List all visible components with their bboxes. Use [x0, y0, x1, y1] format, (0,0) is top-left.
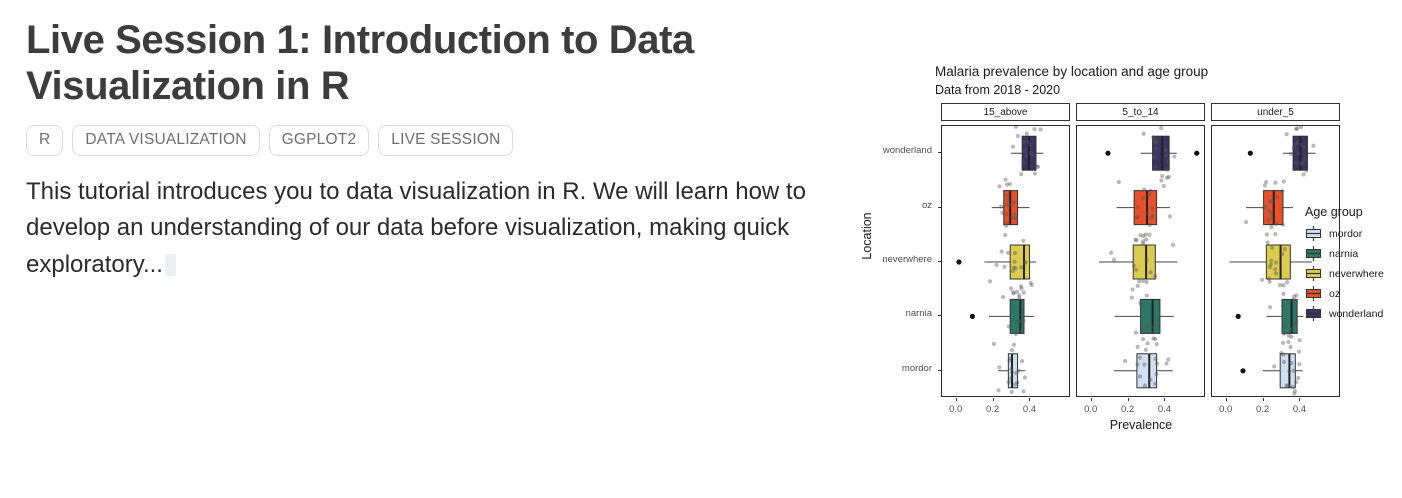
- jitter-point: [1153, 382, 1157, 386]
- x-tick-label: 0.0: [949, 404, 962, 415]
- tag-r[interactable]: R: [26, 125, 63, 156]
- jitter-point: [1009, 376, 1013, 380]
- boxplot-under_5-neverwhere: [1230, 232, 1312, 287]
- jitter-point: [1032, 127, 1036, 131]
- jitter-point: [1003, 233, 1007, 237]
- jitter-point: [1268, 200, 1272, 204]
- jitter-point: [1013, 251, 1017, 255]
- jitter-point: [1000, 211, 1004, 215]
- jitter-point: [1289, 361, 1293, 365]
- jitter-point: [1278, 283, 1282, 287]
- facet-strip-row: 15_above5_to_14under_5: [941, 103, 1340, 121]
- jitter-point: [1013, 382, 1017, 386]
- jitter-point: [1117, 180, 1121, 184]
- x-axis-label: Prevalence: [1006, 418, 1276, 432]
- jitter-point: [1012, 200, 1016, 204]
- jitter-point: [1171, 243, 1175, 247]
- x-axis-ticks: 0.00.20.40.00.20.40.00.20.4: [941, 398, 1340, 420]
- jitter-point: [1142, 187, 1146, 191]
- jitter-point: [1151, 213, 1155, 217]
- jitter-point: [1130, 287, 1134, 291]
- legend-key-icon: [1305, 245, 1322, 262]
- legend-key-icon: [1305, 225, 1322, 242]
- jitter-point: [1013, 266, 1017, 270]
- jitter-point: [1280, 252, 1284, 256]
- facet-strip-5_to_14: 5_to_14: [1076, 103, 1205, 121]
- jitter-point: [1168, 214, 1172, 218]
- x-axis-panel-5_to_14: 0.00.20.4: [1076, 398, 1205, 420]
- legend-item-oz[interactable]: oz: [1305, 285, 1384, 302]
- jitter-point: [1141, 234, 1145, 238]
- jitter-point: [1019, 284, 1023, 288]
- jitter-point: [1268, 265, 1272, 269]
- jitter-point: [1030, 283, 1034, 287]
- panel-5_to_14: [1076, 125, 1205, 397]
- jitter-point: [1297, 362, 1301, 366]
- jitter-point: [1147, 193, 1151, 197]
- x-axis-panel-under_5: 0.00.20.4: [1211, 398, 1340, 420]
- jitter-point: [1274, 222, 1278, 226]
- jitter-point: [1000, 249, 1004, 253]
- jitter-point: [1147, 233, 1151, 237]
- legend-label: wonderland: [1329, 308, 1383, 320]
- jitter-point: [1012, 343, 1016, 347]
- jitter-point: [1145, 293, 1149, 297]
- jitter-point: [1269, 225, 1273, 229]
- jitter-point: [1012, 260, 1016, 264]
- legend-item-narnia[interactable]: narnia: [1305, 245, 1384, 262]
- y-tick-label-oz: oz: [922, 200, 932, 211]
- x-tick-label: 0.4: [1023, 404, 1036, 415]
- boxplot-under_5-oz: [1244, 179, 1293, 229]
- jitter-point: [1287, 369, 1291, 373]
- jitter-point: [1154, 165, 1158, 169]
- legend-key-icon: [1305, 265, 1322, 282]
- boxplot-5_to_14-oz: [1117, 180, 1172, 238]
- jitter-point: [1130, 295, 1134, 299]
- tag-live-session[interactable]: LIVE SESSION: [378, 125, 513, 156]
- jitter-point: [1142, 362, 1146, 366]
- jitter-point: [1020, 359, 1024, 363]
- jitter-point: [1162, 184, 1166, 188]
- jitter-point: [1019, 172, 1023, 176]
- jitter-point: [1010, 390, 1014, 394]
- tag-list: R DATA VISUALIZATION GGPLOT2 LIVE SESSIO…: [26, 125, 860, 156]
- jitter-point: [1148, 189, 1152, 193]
- x-tick-label: 0.2: [986, 404, 999, 415]
- jitter-point: [1009, 203, 1013, 207]
- boxplot-15_above-mordor: [996, 343, 1027, 394]
- boxplot-5_to_14-mordor: [1114, 342, 1173, 397]
- jitter-point: [1273, 232, 1277, 236]
- jitter-point: [1133, 238, 1137, 242]
- x-tick-label: 0.4: [1158, 404, 1171, 415]
- jitter-point: [1266, 240, 1270, 244]
- jitter-point: [1154, 147, 1158, 151]
- jitter-point: [1281, 341, 1285, 345]
- jitter-point: [988, 279, 992, 283]
- jitter-point: [1155, 324, 1159, 328]
- jitter-point: [1036, 165, 1040, 169]
- x-tick-mark: [1299, 398, 1300, 401]
- jitter-point: [1141, 239, 1145, 243]
- jitter-point: [999, 204, 1003, 208]
- jitter-point: [1138, 374, 1142, 378]
- legend-label: oz: [1329, 288, 1340, 300]
- boxplot-under_5-narnia: [1236, 292, 1304, 344]
- jitter-point: [1262, 206, 1266, 210]
- legend-title: Age group: [1305, 205, 1384, 219]
- jitter-point: [1164, 361, 1168, 365]
- jitter-point: [1109, 251, 1113, 255]
- jitter-point: [1015, 290, 1019, 294]
- jitter-point: [1291, 385, 1295, 389]
- jitter-point: [1165, 176, 1169, 180]
- legend-key-icon: [1305, 285, 1322, 302]
- jitter-point: [1282, 331, 1286, 335]
- y-tick-label-mordor: mordor: [902, 363, 932, 374]
- jitter-point: [1008, 182, 1012, 186]
- jitter-point: [1296, 151, 1300, 155]
- jitter-point: [994, 263, 998, 267]
- legend-item-mordor[interactable]: mordor: [1305, 225, 1384, 242]
- jitter-point: [1166, 160, 1170, 164]
- jitter-point: [1164, 148, 1168, 152]
- jitter-point: [1136, 205, 1140, 209]
- jitter-point: [1016, 134, 1020, 138]
- jitter-point: [1275, 195, 1279, 199]
- jitter-point: [1154, 357, 1158, 361]
- tag-ggplot2[interactable]: GGPLOT2: [269, 125, 370, 156]
- jitter-point: [1022, 290, 1026, 294]
- jitter-point: [1148, 378, 1152, 382]
- jitter-point: [1141, 328, 1145, 332]
- jitter-point: [1138, 356, 1142, 360]
- jitter-point: [1290, 327, 1294, 331]
- jitter-point: [1142, 132, 1146, 136]
- page-title: Live Session 1: Introduction to Data Vis…: [26, 18, 726, 109]
- x-tick-mark: [1128, 398, 1129, 401]
- jitter-point: [1019, 265, 1023, 269]
- jitter-point: [1268, 280, 1272, 284]
- post-description-text: This tutorial introduces you to data vis…: [26, 178, 806, 278]
- jitter-point: [1139, 302, 1143, 306]
- jitter-point: [1154, 139, 1158, 143]
- jitter-point: [1304, 168, 1308, 172]
- jitter-point: [1135, 215, 1139, 219]
- jitter-point: [1270, 246, 1274, 250]
- outlier-point: [1105, 151, 1110, 156]
- legend-items: mordornarnianeverwhereozwonderland: [1305, 225, 1384, 322]
- jitter-point: [1293, 300, 1297, 304]
- jitter-point: [1019, 329, 1023, 333]
- jitter-point: [1144, 348, 1148, 352]
- jitter-point: [1289, 335, 1293, 339]
- boxplot-under_5-mordor: [1240, 341, 1302, 396]
- jitter-point: [1299, 126, 1303, 129]
- jitter-point: [1136, 345, 1140, 349]
- x-tick-label: 0.2: [1121, 404, 1134, 415]
- jitter-point: [1017, 293, 1021, 297]
- jitter-point: [1021, 161, 1025, 165]
- legend-item-neverwhere[interactable]: neverwhere: [1305, 265, 1384, 282]
- jitter-point: [1007, 324, 1011, 328]
- jitter-point: [1028, 143, 1032, 147]
- jitter-point: [1149, 325, 1153, 329]
- jitter-point: [1001, 295, 1005, 299]
- boxplot-15_above-wonderland: [1011, 126, 1043, 176]
- jitter-point: [1143, 384, 1147, 388]
- jitter-point: [1014, 216, 1018, 220]
- boxplot-5_to_14-narnia: [1115, 287, 1174, 345]
- jitter-point: [1132, 264, 1136, 268]
- x-tick-mark: [1029, 398, 1030, 401]
- jitter-point: [1294, 161, 1298, 165]
- facet-strip-15_above: 15_above: [941, 103, 1070, 121]
- jitter-point: [1002, 265, 1006, 269]
- jitter-point: [1011, 299, 1015, 303]
- x-tick-label: 0.0: [1219, 404, 1232, 415]
- jitter-point: [996, 388, 1000, 392]
- jitter-point: [1005, 194, 1009, 198]
- x-tick-mark: [993, 398, 994, 401]
- jitter-point: [1302, 146, 1306, 150]
- jitter-point: [1281, 292, 1285, 296]
- jitter-point: [1021, 319, 1025, 323]
- jitter-point: [1172, 154, 1176, 158]
- jitter-point: [1033, 171, 1037, 175]
- y-tick-label-narnia: narnia: [906, 308, 932, 319]
- jitter-point: [1269, 259, 1273, 263]
- jitter-point: [1274, 260, 1278, 264]
- jitter-point: [1006, 251, 1010, 255]
- page-root: Live Session 1: Introduction to Data Vis…: [0, 0, 1402, 498]
- jitter-point: [1009, 367, 1013, 371]
- boxplot-5_to_14-neverwhere: [1099, 234, 1177, 288]
- jitter-point: [1007, 359, 1011, 363]
- jitter-point: [1153, 337, 1157, 341]
- jitter-point: [1025, 132, 1029, 136]
- jitter-point: [1021, 140, 1025, 144]
- jitter-point: [1154, 372, 1158, 376]
- jitter-point: [1007, 380, 1011, 384]
- legend-label: mordor: [1329, 228, 1362, 240]
- jitter-point: [1286, 384, 1290, 388]
- boxplot-under_5-wonderland: [1248, 126, 1316, 176]
- outlier-point: [956, 259, 961, 264]
- jitter-point: [1296, 141, 1300, 145]
- outlier-point: [970, 314, 975, 319]
- jitter-point: [1265, 232, 1269, 236]
- boxplot-15_above-oz: [992, 178, 1030, 238]
- legend-item-wonderland[interactable]: wonderland: [1305, 305, 1384, 322]
- jitter-point: [1141, 196, 1145, 200]
- jitter-point: [1012, 212, 1016, 216]
- jitter-point: [1148, 223, 1152, 227]
- jitter-point: [1145, 211, 1149, 215]
- jitter-point: [1294, 380, 1298, 384]
- jitter-point: [1021, 239, 1025, 243]
- jitter-point: [1260, 278, 1264, 282]
- jitter-point: [1142, 396, 1146, 397]
- jitter-point: [1296, 376, 1300, 380]
- jitter-point: [1039, 127, 1043, 131]
- jitter-point: [1281, 304, 1285, 308]
- boxplot-15_above-neverwhere: [956, 239, 1036, 291]
- jitter-point: [1302, 157, 1306, 161]
- jitter-point: [1023, 375, 1027, 379]
- jitter-point: [1147, 396, 1151, 397]
- y-tick-label-neverwhere: neverwhere: [882, 254, 932, 265]
- jitter-point: [1285, 280, 1289, 284]
- legend-label: neverwhere: [1329, 268, 1384, 280]
- jitter-point: [1283, 247, 1287, 251]
- jitter-point: [1263, 183, 1267, 187]
- jitter-point: [1149, 270, 1153, 274]
- outlier-point: [1236, 314, 1241, 319]
- facet-strip-under_5: under_5: [1211, 103, 1340, 121]
- jitter-point: [1112, 258, 1116, 262]
- jitter-point: [1166, 357, 1170, 361]
- jitter-point: [1164, 153, 1168, 157]
- jitter-point: [1299, 162, 1303, 166]
- jitter-point: [1016, 319, 1020, 323]
- jitter-point: [1151, 330, 1155, 334]
- jitter-point: [1005, 203, 1009, 207]
- jitter-point: [1004, 224, 1008, 228]
- jitter-point: [1144, 258, 1148, 262]
- jitter-point: [1159, 178, 1163, 182]
- jitter-point: [1289, 152, 1293, 156]
- jitter-point: [1137, 279, 1141, 283]
- jitter-point: [1294, 322, 1298, 326]
- panel-15_above: [941, 125, 1070, 397]
- x-tick-mark: [1263, 398, 1264, 401]
- jitter-point: [1006, 198, 1010, 202]
- boxplot-5_to_14-wonderland: [1105, 126, 1199, 182]
- boxplot-15_above-narnia: [970, 286, 1034, 346]
- post-description: This tutorial introduces you to data vis…: [26, 174, 806, 283]
- jitter-point: [1022, 260, 1026, 264]
- jitter-point: [1024, 153, 1028, 157]
- jitter-point: [1273, 181, 1277, 185]
- x-tick-mark: [1226, 398, 1227, 401]
- jitter-point: [1282, 179, 1286, 183]
- tag-data-visualization[interactable]: DATA VISUALIZATION: [72, 125, 259, 156]
- text-truncation-marker: [165, 254, 176, 276]
- y-tick-label-wonderland: wonderland: [883, 145, 932, 156]
- chart-legend: Age group mordornarnianeverwhereozwonder…: [1305, 205, 1384, 325]
- jitter-point: [1141, 337, 1145, 341]
- jitter-point: [1311, 144, 1315, 148]
- jitter-point: [1014, 126, 1018, 129]
- x-tick-mark: [1091, 398, 1092, 401]
- legend-label: narnia: [1329, 248, 1358, 260]
- jitter-point: [1292, 368, 1296, 372]
- jitter-point: [1266, 218, 1270, 222]
- jitter-point: [1010, 348, 1014, 352]
- jitter-point: [1280, 189, 1284, 193]
- jitter-point: [1155, 342, 1159, 346]
- jitter-point: [1004, 212, 1008, 216]
- jitter-point: [1020, 313, 1024, 317]
- jitter-point: [1146, 341, 1150, 345]
- jitter-point: [1165, 167, 1169, 171]
- jitter-point: [1274, 271, 1278, 275]
- jitter-point: [1153, 274, 1157, 278]
- jitter-point: [1160, 174, 1164, 178]
- outlier-point: [1194, 151, 1199, 156]
- jitter-point: [1136, 284, 1140, 288]
- jitter-point: [1134, 268, 1138, 272]
- jitter-point: [1244, 220, 1248, 224]
- jitter-point: [1292, 295, 1296, 299]
- jitter-point: [1009, 286, 1013, 290]
- facet-panels: [941, 125, 1340, 397]
- jitter-point: [1281, 283, 1285, 287]
- x-axis-panel-15_above: 0.00.20.4: [941, 398, 1070, 420]
- x-tick-label: 0.2: [1256, 404, 1269, 415]
- jitter-point: [1010, 370, 1014, 374]
- jitter-point: [1282, 360, 1286, 364]
- chart-subtitle: Data from 2018 - 2020: [935, 83, 1060, 97]
- jitter-point: [1267, 208, 1271, 212]
- jitter-point: [1145, 280, 1149, 284]
- jitter-point: [1155, 361, 1159, 365]
- jitter-point: [1285, 132, 1289, 136]
- x-tick-mark: [956, 398, 957, 401]
- jitter-point: [1293, 389, 1297, 393]
- legend-key-icon: [1305, 305, 1322, 322]
- y-axis-ticks: wonderlandozneverwherenarniamordor: [860, 125, 938, 397]
- jitter-point: [1014, 332, 1018, 336]
- jitter-point: [1297, 350, 1301, 354]
- jitter-point: [1302, 172, 1306, 176]
- jitter-point: [1003, 178, 1007, 182]
- outlier-point: [1240, 368, 1245, 373]
- jitter-point: [1134, 331, 1138, 335]
- jitter-point: [1151, 135, 1155, 139]
- jitter-point: [1135, 362, 1139, 366]
- jitter-point: [1291, 146, 1295, 150]
- jitter-point: [1021, 304, 1025, 308]
- jitter-point: [1288, 345, 1292, 349]
- jitter-point: [1268, 305, 1272, 309]
- jitter-point: [1011, 145, 1015, 149]
- jitter-point: [1123, 359, 1127, 363]
- jitter-point: [1281, 223, 1285, 227]
- jitter-point: [1014, 371, 1018, 375]
- jitter-point: [1298, 338, 1302, 342]
- jitter-point: [1141, 279, 1145, 283]
- jitter-point: [1272, 364, 1276, 368]
- jitter-point: [1295, 126, 1299, 130]
- jitter-point: [992, 342, 996, 346]
- jitter-point: [997, 184, 1001, 188]
- jitter-point: [1153, 155, 1157, 159]
- jitter-point: [1159, 126, 1163, 130]
- x-tick-label: 0.0: [1084, 404, 1097, 415]
- outlier-point: [1248, 151, 1253, 156]
- jitter-point: [1279, 351, 1283, 355]
- jitter-point: [1283, 323, 1287, 327]
- jitter-point: [1029, 151, 1033, 155]
- jitter-point: [1146, 324, 1150, 328]
- jitter-point: [1286, 340, 1290, 344]
- jitter-point: [1156, 317, 1160, 321]
- x-tick-label: 0.4: [1293, 404, 1306, 415]
- jitter-point: [1023, 149, 1027, 153]
